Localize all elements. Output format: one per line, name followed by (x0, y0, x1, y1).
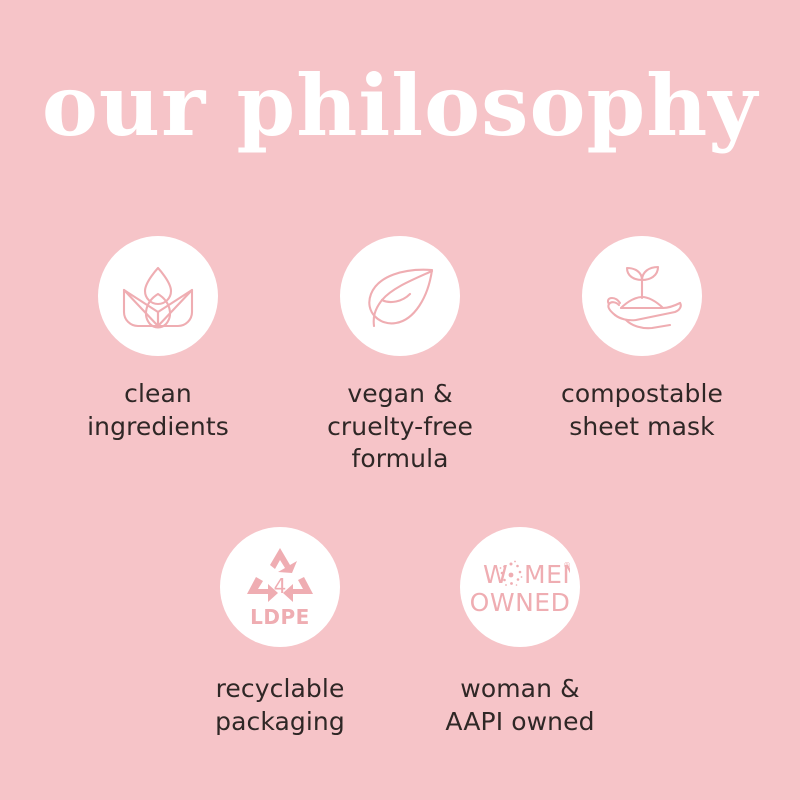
leaf-icon (354, 250, 446, 342)
hand-sprout-icon (596, 250, 688, 342)
badge-woman-aapi-owned: W (400, 527, 640, 738)
women-owned-line1-pre: W (483, 560, 508, 589)
caption-line: sheet mask (561, 411, 723, 444)
registered-trademark-icon: ® (563, 561, 570, 570)
caption-line: packaging (215, 706, 345, 739)
caption-line: clean (87, 378, 229, 411)
recycle-material-label: LDPE (250, 605, 310, 629)
badge-row-bottom: 4 LDPE recyclable packaging W (0, 527, 800, 738)
badge-clean-ingredients: clean ingredients (37, 236, 279, 443)
lotus-droplet-icon (112, 250, 204, 342)
badge-compostable-sheet-mask: compostable sheet mask (521, 236, 763, 443)
icon-circle (340, 236, 460, 356)
badge-row-top: clean ingredients vegan & cruelty-free f… (0, 236, 800, 476)
icon-circle (582, 236, 702, 356)
badge-caption: clean ingredients (87, 378, 229, 443)
caption-line: vegan & (327, 378, 473, 411)
icon-circle: 4 LDPE (220, 527, 340, 647)
icon-circle: W (460, 527, 580, 647)
badge-vegan-cruelty-free: vegan & cruelty-free formula (279, 236, 521, 476)
women-owned-icon: W (470, 541, 570, 633)
women-owned-line2: OWNED (470, 588, 570, 617)
icon-circle (98, 236, 218, 356)
philosophy-poster: our philosophy (0, 0, 800, 800)
caption-line: cruelty-free (327, 411, 473, 444)
caption-line: recyclable (215, 673, 345, 706)
recycle-number: 4 (274, 574, 287, 598)
caption-line: woman & (445, 673, 594, 706)
caption-line: ingredients (87, 411, 229, 444)
badge-caption: recyclable packaging (215, 673, 345, 738)
badge-caption: woman & AAPI owned (445, 673, 594, 738)
caption-line: AAPI owned (445, 706, 594, 739)
badge-caption: vegan & cruelty-free formula (327, 378, 473, 476)
page-title: our philosophy (0, 64, 800, 148)
badge-recyclable-packaging: 4 LDPE recyclable packaging (160, 527, 400, 738)
recycle-ldpe-icon: 4 LDPE (234, 541, 326, 633)
badge-caption: compostable sheet mask (561, 378, 723, 443)
caption-line: compostable (561, 378, 723, 411)
caption-line: formula (327, 443, 473, 476)
